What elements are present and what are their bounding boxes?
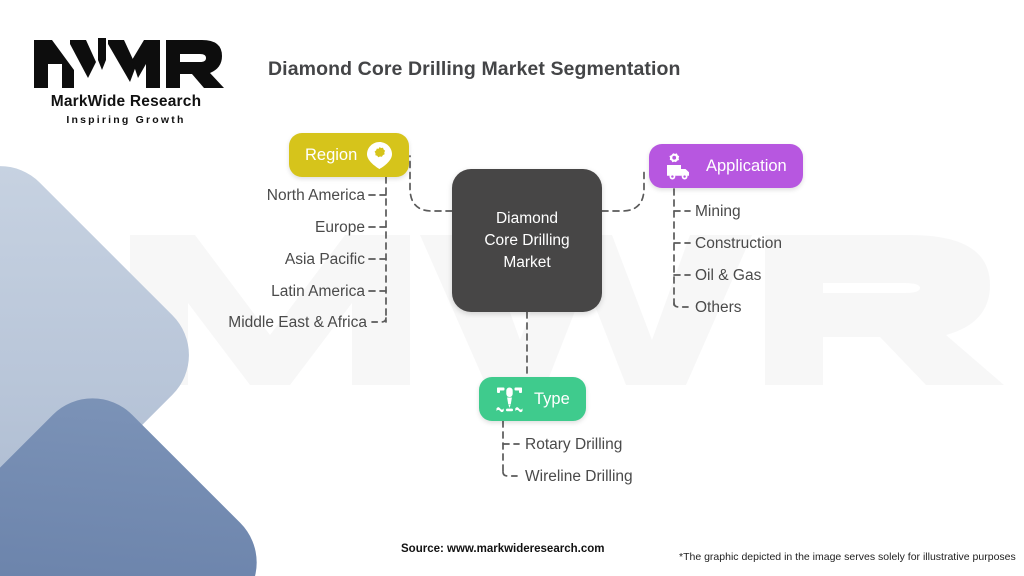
leaf-region-0: North America — [145, 187, 365, 205]
branch-badge-type[interactable]: Type — [479, 377, 586, 421]
leaf-type-1: Wireline Drilling — [525, 468, 633, 486]
leaf-application-1: Construction — [695, 235, 782, 253]
center-node: DiamondCore DrillingMarket — [452, 169, 602, 312]
leaf-application-0: Mining — [695, 203, 741, 221]
leaf-application-3: Others — [695, 299, 742, 317]
wire-center-to-application — [602, 168, 644, 211]
branch-label-type: Type — [534, 390, 570, 409]
leaf-application-2: Oil & Gas — [695, 267, 761, 285]
center-line-1: Diamond — [496, 210, 558, 227]
source-text: Source: www.markwideresearch.com — [401, 543, 604, 555]
center-line-3: Market — [503, 254, 550, 271]
center-node-text: DiamondCore DrillingMarket — [484, 208, 569, 274]
leaf-region-4: Middle East & Africa — [145, 314, 367, 332]
branch-badge-region[interactable]: Region — [289, 133, 409, 177]
wire-center-to-region — [410, 156, 452, 211]
branch-badge-application[interactable]: Application — [649, 144, 803, 188]
center-line-2: Core Drilling — [484, 232, 569, 249]
leaf-type-0: Rotary Drilling — [525, 436, 622, 454]
branch-label-application: Application — [706, 157, 787, 176]
map-pin-gear-icon — [366, 141, 393, 170]
disclaimer-text: *The graphic depicted in the image serve… — [679, 551, 1016, 563]
infographic-canvas: MarkWide Research Inspiring Growth Diamo… — [0, 0, 1024, 576]
drill-bit-icon — [495, 385, 525, 413]
truck-gear-icon — [665, 152, 697, 180]
leaf-region-1: Europe — [145, 219, 365, 237]
leaf-region-2: Asia Pacific — [145, 251, 365, 269]
leaf-region-3: Latin America — [145, 283, 365, 301]
branch-label-region: Region — [305, 146, 357, 165]
